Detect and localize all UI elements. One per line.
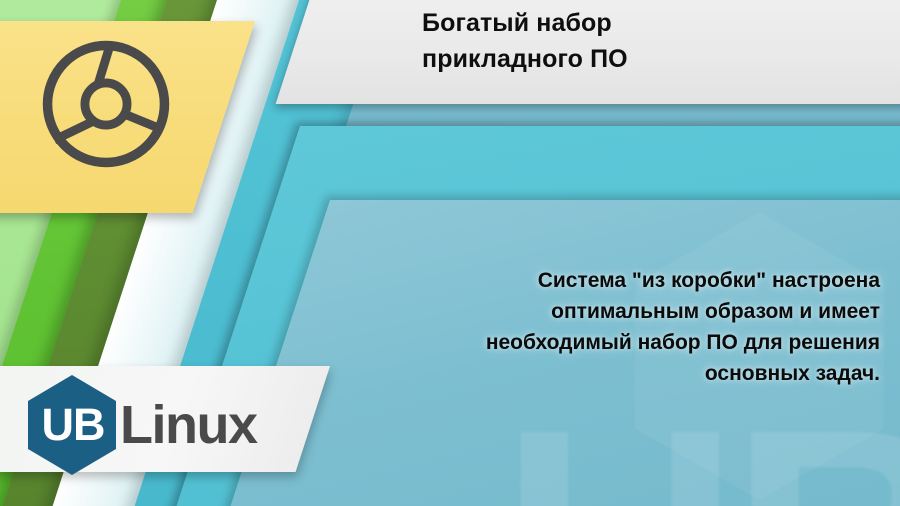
body-line-4: основных задач. <box>420 359 880 390</box>
body-line-1: Система "из коробки" настроена <box>420 266 880 297</box>
title-line-1: Богатый набор <box>422 6 882 42</box>
body-paragraph: Система "из коробки" настроена оптимальн… <box>420 266 880 389</box>
brand-logo: UB Linux <box>28 375 257 475</box>
logo-word-text: Linux <box>120 394 257 456</box>
slide-canvas: UB Богатый набор прикладного ПО UB Linux… <box>0 0 900 506</box>
ub-watermark: UB <box>501 380 900 506</box>
ub-hexagon-icon: UB <box>28 375 116 475</box>
title-line-2: прикладного ПО <box>422 42 882 78</box>
body-line-3: необходимый набор ПО для решения <box>420 328 880 359</box>
page-title: Богатый набор прикладного ПО <box>422 6 882 77</box>
logo-mark-text: UB <box>28 375 116 475</box>
aperture-disc-icon <box>38 36 174 172</box>
body-line-2: оптимальным образом и имеет <box>420 297 880 328</box>
